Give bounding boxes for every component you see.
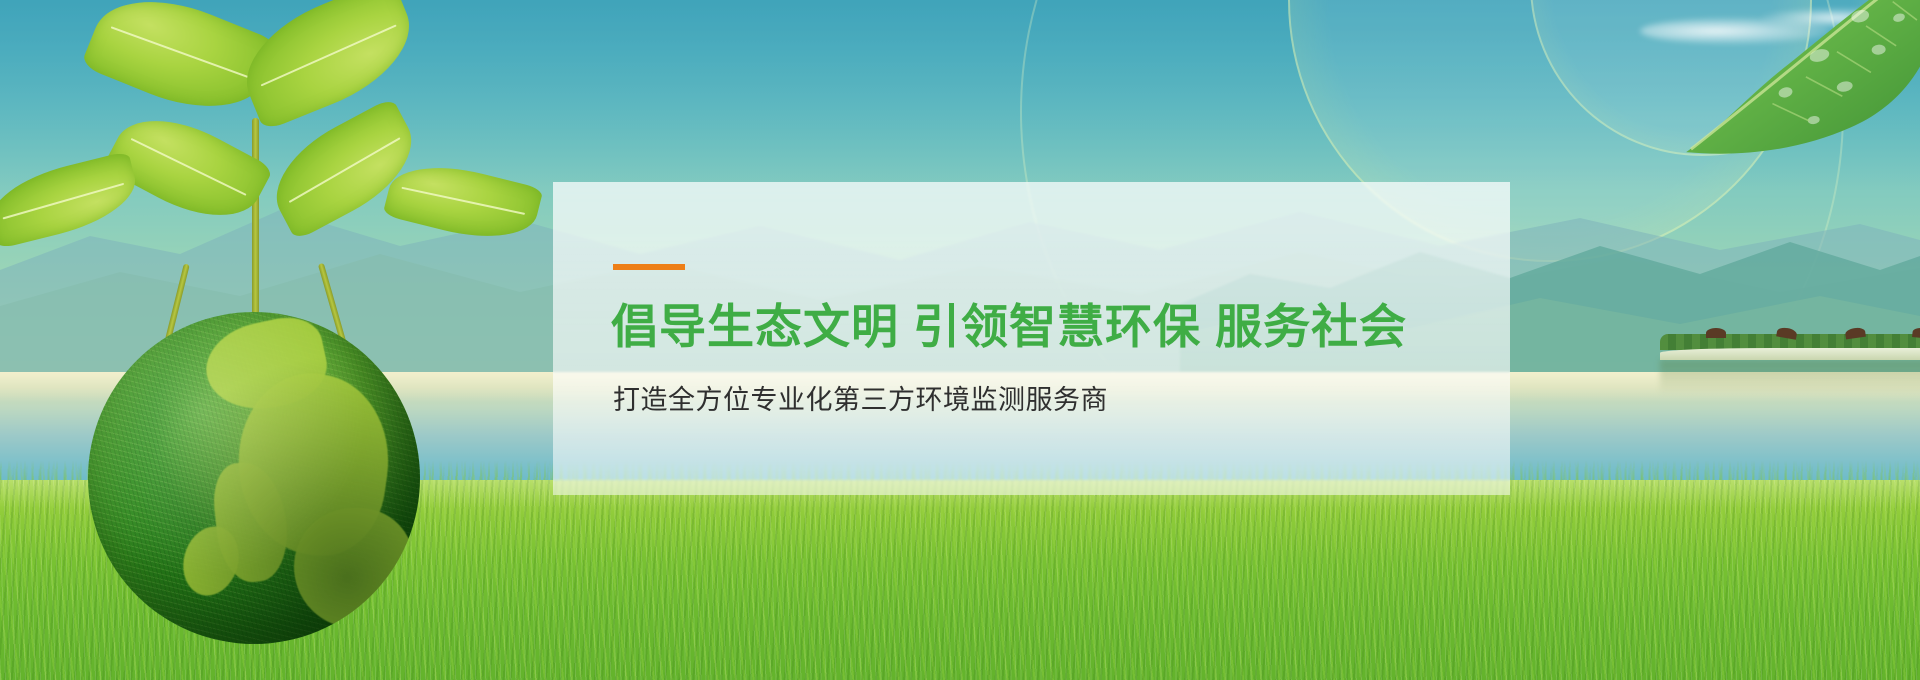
palm-tree-icon xyxy=(1752,310,1804,338)
headline-panel: 倡导生态文明 引领智慧环保 服务社会 打造全方位专业化第三方环境监测服务商 xyxy=(553,182,1510,495)
earth-globe xyxy=(88,312,420,644)
island-reflection xyxy=(1660,360,1920,394)
page-title: 倡导生态文明 引领智慧环保 服务社会 xyxy=(611,298,1407,357)
island-bank xyxy=(1660,348,1920,360)
page-subtitle: 打造全方位专业化第三方环境监测服务商 xyxy=(613,378,1108,417)
globe-shading xyxy=(88,312,420,644)
headline-panel-inner: 倡导生态文明 引领智慧环保 服务社会 打造全方位专业化第三方环境监测服务商 xyxy=(553,182,1510,495)
leaf-mid-left-lower xyxy=(0,151,144,249)
sprout-and-globe xyxy=(0,0,560,680)
palm-tree-icon xyxy=(1822,310,1874,338)
island-with-palms xyxy=(1660,318,1920,360)
eco-hero-banner: 倡导生态文明 引领智慧环保 服务社会 打造全方位专业化第三方环境监测服务商 xyxy=(0,0,1920,680)
palm-tree-icon xyxy=(1682,310,1734,338)
leaf-mid-right-lower xyxy=(382,153,543,251)
palm-tree-icon xyxy=(1888,310,1920,338)
accent-rule xyxy=(613,264,685,270)
